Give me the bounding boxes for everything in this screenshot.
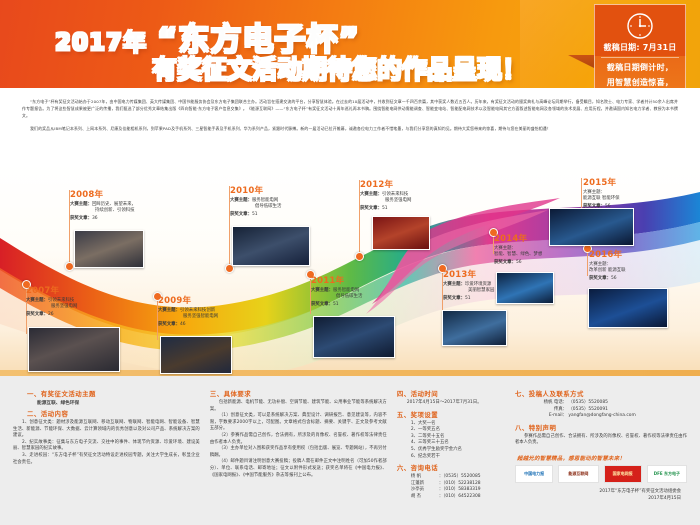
info-column-1: 一、有奖征文活动主题 能源互联、绿色环保 二、活动内容 1、创意征文类：题材涉及… — [8, 386, 205, 525]
card-count: 获奖文章：51 — [311, 301, 362, 307]
card-year: 2016年 — [589, 248, 626, 260]
hotline-row: 沙亭员：（010）58383319 — [397, 487, 505, 494]
hotline-row: 杨 帆：（0535）5520085 — [397, 474, 505, 481]
timeline-card-2014[interactable]: 2014年 大赛主题： 智能、智慧、绿色、梦想 获奖文章：56 — [494, 232, 542, 265]
requirement-1: （1）创意征文类，可以是系统解决方案、典型设计、调研报告、意见建议等，内容不限，… — [210, 413, 387, 433]
card-count: 获奖文章：51 — [360, 205, 411, 211]
sponsor-logos: 中国电力报 能源互联网 国家电网报 DFE 东方电子 — [515, 465, 687, 483]
hotline-number: （010）52238128 — [443, 481, 480, 486]
submission-email[interactable]: yangfan@dongfang-china.com — [568, 413, 635, 418]
event-photo-2015 — [549, 208, 634, 246]
clock-icon — [623, 12, 657, 40]
card-theme-line-1: 改革创新 能源互联 — [589, 268, 626, 274]
award-item: 6、纪念奖若干 — [397, 454, 505, 461]
timeline-stem — [587, 250, 588, 276]
content-item-3: 3、走进校园：“东方电子杯”有奖征文活动特设走进校园专题，关注大学生成长，彰显企… — [13, 453, 200, 466]
card-theme-label: 大赛主题： — [70, 202, 92, 207]
card-theme-label: 大赛主题： — [311, 288, 333, 293]
card-theme-line-2: 倡导低碳生活 — [230, 204, 281, 210]
card-year: 2014年 — [494, 232, 542, 244]
info-section: 一、有奖征文活动主题 能源互联、绿色环保 二、活动内容 1、创意征文类：题材涉及… — [0, 376, 700, 525]
heading-content: 二、活动内容 — [13, 409, 200, 418]
heading-topic: 一、有奖征文活动主题 — [13, 389, 200, 398]
card-year: 2015年 — [583, 176, 620, 188]
card-theme-line-2: 服务坚强智能电网 — [158, 314, 218, 320]
requirement-3: （3）主办单位对入围和获奖作品享有使用权（包括出版、展览、专题网站），不再另付稿… — [210, 446, 387, 459]
card-theme-label: 大赛主题： — [360, 192, 382, 197]
hotline-name: 胡 杰 — [411, 494, 439, 501]
submission-value: （0535）5520085 — [568, 400, 608, 405]
card-theme-line-1: 大赛主题：引领未来科技 — [360, 192, 411, 198]
hotline-name: 沙亭员 — [411, 487, 439, 494]
submission-row: 杨帆 电话： （0535）5520085 — [515, 400, 687, 407]
event-photo-2013 — [442, 310, 507, 346]
footer-organizer: 2017年“东方电子杯”有奖征文活动组委会 — [515, 489, 687, 496]
card-theme-line-1: 大赛主题：回眸历史、展望未来， — [70, 202, 136, 208]
badge-line-1: 截稿日期倒计时， — [595, 62, 685, 73]
event-photo-2007 — [28, 327, 120, 372]
card-theme-label: 大赛主题： — [26, 298, 48, 303]
heading-awards: 五、奖项设置 — [397, 410, 505, 419]
requirement-4: （4）邮件题目请注明创意大赛投稿；投稿人需在邮件正文中注明姓名（可加50作者部分… — [210, 459, 387, 479]
card-theme-line-1: 大赛主题：引领未来科技创新 — [158, 308, 218, 314]
award-item: 4、三等奖三十五名 — [397, 440, 505, 447]
card-theme-label: 大赛主题： — [158, 308, 180, 313]
slogan-text: 超越光的智慧精品，感恩能动的智慧未来！ — [517, 454, 687, 462]
submission-label: 杨帆 电话： — [533, 400, 567, 407]
heading-hotline: 六、咨询电话 — [397, 463, 505, 472]
submission-value: （0535）5520091 — [568, 407, 608, 412]
logo-energy-internet: 能源互联网 — [558, 465, 598, 483]
timeline-node[interactable] — [355, 252, 364, 261]
timeline-section: 2007年 大赛主题：引领未来科技 服务坚强电网 获奖文章：26 2008年 大… — [0, 164, 700, 376]
event-photo-2010 — [232, 226, 310, 266]
requirement-2: （2）参赛作品需自己创作，合法拥有，所涉及的肖像权、名誉权、著作权等法律责任由作… — [210, 433, 387, 446]
award-item: 2、一等奖五名 — [397, 427, 505, 434]
event-photo-2016 — [588, 288, 668, 328]
intro-paragraph-2: 我们的奖品从IBM笔记本系列、上网本系列、尼康及佳能相机系列，到苹果PAD及手机… — [22, 125, 678, 132]
timeline-card-2013[interactable]: 2013年 大赛主题：珍爱环境资源 美丽智慧家园 获奖文章：51 — [443, 268, 494, 301]
logo-dongfang-electronics: DFE 东方电子 — [647, 465, 687, 483]
event-photo-2014 — [496, 272, 554, 304]
card-count: 获奖文章：26 — [26, 311, 77, 317]
card-count: 获奖文章：56 — [494, 259, 542, 265]
info-column-2: 三、具体要求 包括新能源、电机节能、无功补偿、空调节能、建筑节能、公用事业节能等… — [205, 386, 392, 525]
timeline-card-2010[interactable]: 2010年 大赛主题：服务智能电网 倡导低碳生活 获奖文章：51 — [230, 184, 281, 217]
activity-period: 2017年4月15日～2017年7月31日。 — [397, 400, 505, 407]
card-count: 获奖文章：51 — [443, 295, 494, 301]
event-photo-2011 — [313, 316, 395, 358]
hotline-number: （010）58383319 — [443, 487, 480, 492]
timeline-node[interactable] — [65, 262, 74, 271]
card-theme-label: 大赛主题： — [443, 282, 465, 287]
card-year: 2010年 — [230, 184, 281, 196]
card-count: 获奖文章：36 — [70, 215, 136, 221]
page-subtitle: 有奖征文活动期待您的作品呈现！ — [152, 50, 527, 86]
content-item-1: 1、创意征文类：题材涉及能源互联网、移动互联网、物联网、智能电网、智能设备、智慧… — [13, 420, 200, 440]
heading-submission: 七、投稿人及联系方式 — [515, 389, 687, 398]
card-count: 获奖文章：46 — [158, 321, 218, 327]
card-year: 2011年 — [311, 274, 362, 286]
badge-line-2: 用智慧创造惊喜， — [595, 77, 685, 88]
timeline-card-2009[interactable]: 2009年 大赛主题：引领未来科技创新 服务坚强智能电网 获奖文章：46 — [158, 294, 218, 327]
logo-china-power-news: 中国电力报 — [515, 465, 553, 483]
heading-requirements: 三、具体要求 — [210, 389, 387, 398]
timeline-card-2011[interactable]: 2011年 大赛主题：服务智能电网 倡导低碳生活 获奖文章：51 — [311, 274, 362, 307]
heading-time: 四、活动时间 — [397, 389, 505, 398]
intro-paragraph-1: “东方电子”杯有奖征文活动始办于2007年，由中国电力传媒集团、英大传媒集团、中… — [22, 98, 678, 120]
event-photo-2012 — [372, 216, 430, 250]
card-theme-line-1: 智能、智慧、绿色、梦想 — [494, 252, 542, 258]
card-theme-line-1: 能源互联 智能环保 — [583, 196, 620, 202]
card-count: 获奖文章：51 — [230, 211, 281, 217]
requirement-intro: 包括新能源、电机节能、无功补偿、空调节能、建筑节能、公用事业节能等系统解决方案。 — [210, 400, 387, 413]
card-theme-label: 大赛主题： — [230, 198, 252, 203]
timeline-card-2008[interactable]: 2008年 大赛主题：回眸历史、展望未来， 持续创新、引领科技 获奖文章：36 — [70, 188, 136, 221]
info-column-3: 四、活动时间 2017年4月15日～2017年7月31日。 五、奖项设置 1、大… — [392, 386, 510, 525]
timeline-card-2015[interactable]: 2015年 大赛主题： 能源互联 智能环保 获奖文章：56 — [583, 176, 620, 209]
event-photo-2008 — [74, 230, 144, 268]
submission-label: E-mail： — [533, 413, 567, 420]
event-photo-2009 — [160, 336, 232, 374]
card-theme-line-1: 大赛主题：珍爱环境资源 — [443, 282, 494, 288]
card-year: 2007年 — [26, 284, 77, 296]
card-year: 2012年 — [360, 178, 411, 190]
card-theme-line-1: 大赛主题：服务智能电网 — [230, 198, 281, 204]
info-column-4: 七、投稿人及联系方式 杨帆 电话： （0535）5520085 传真： （053… — [510, 386, 692, 525]
content-item-2: 2、纪实故事类：征集与东方电子交流、交往中的事件、体现节约资源、珍爱环境、建设美… — [13, 440, 200, 453]
card-year: 2013年 — [443, 268, 494, 280]
hotline-row: 胡 杰：（010）64522308 — [397, 494, 505, 501]
footer-date: 2017年4月15日 — [515, 496, 687, 503]
hotline-number: （010）64522308 — [443, 494, 480, 499]
timeline-card-2007[interactable]: 2007年 大赛主题：引领未来科技 服务坚强电网 获奖文章：26 — [26, 284, 77, 317]
intro-section: “东方电子”杯有奖征文活动始办于2007年，由中国电力传媒集团、英大传媒集团、中… — [0, 88, 700, 168]
timeline-card-2012[interactable]: 2012年 大赛主题：引领未来科技 服务坚强电网 获奖文章：51 — [360, 178, 411, 211]
title-year: 2017年 — [55, 30, 147, 56]
badge-deadline-date: 截稿日期: 7月31日 — [601, 42, 679, 58]
card-theme-line-2: 服务坚强电网 — [360, 198, 411, 204]
award-item: 5、优秀学生励奖学金六名 — [397, 447, 505, 454]
card-theme-line-1: 大赛主题：引领未来科技 — [26, 298, 77, 304]
card-theme-line-2: 倡导低碳生活 — [311, 294, 362, 300]
card-theme-line-1: 大赛主题：服务智能电网 — [311, 288, 362, 294]
hotline-number: （0535）5520085 — [443, 474, 480, 479]
declaration-text: 参赛作品需自己创作、合法拥有、所涉及的肖像权、名誉权、著作权等法律责任由作者本人… — [515, 434, 687, 447]
topic-value: 能源互联、绿色环保 — [13, 400, 200, 406]
logo-state-grid-news: 国家电网报 — [604, 465, 642, 483]
card-theme-line-2: 美丽智慧家园 — [443, 288, 494, 294]
hotline-name: 杨 帆 — [411, 474, 439, 481]
card-year: 2009年 — [158, 294, 218, 306]
card-year: 2008年 — [70, 188, 136, 200]
card-theme-line-2: 服务坚强电网 — [26, 304, 77, 310]
heading-declaration: 八、特别声明 — [515, 423, 687, 432]
submission-row: E-mail： yangfan@dongfang-china.com — [515, 413, 687, 420]
card-theme-line-2: 持续创新、引领科技 — [70, 208, 136, 214]
card-count: 获奖文章：56 — [589, 275, 626, 281]
timeline-card-2016[interactable]: 2016年 大赛主题： 改革创新 能源互联 获奖文章：56 — [589, 248, 626, 281]
